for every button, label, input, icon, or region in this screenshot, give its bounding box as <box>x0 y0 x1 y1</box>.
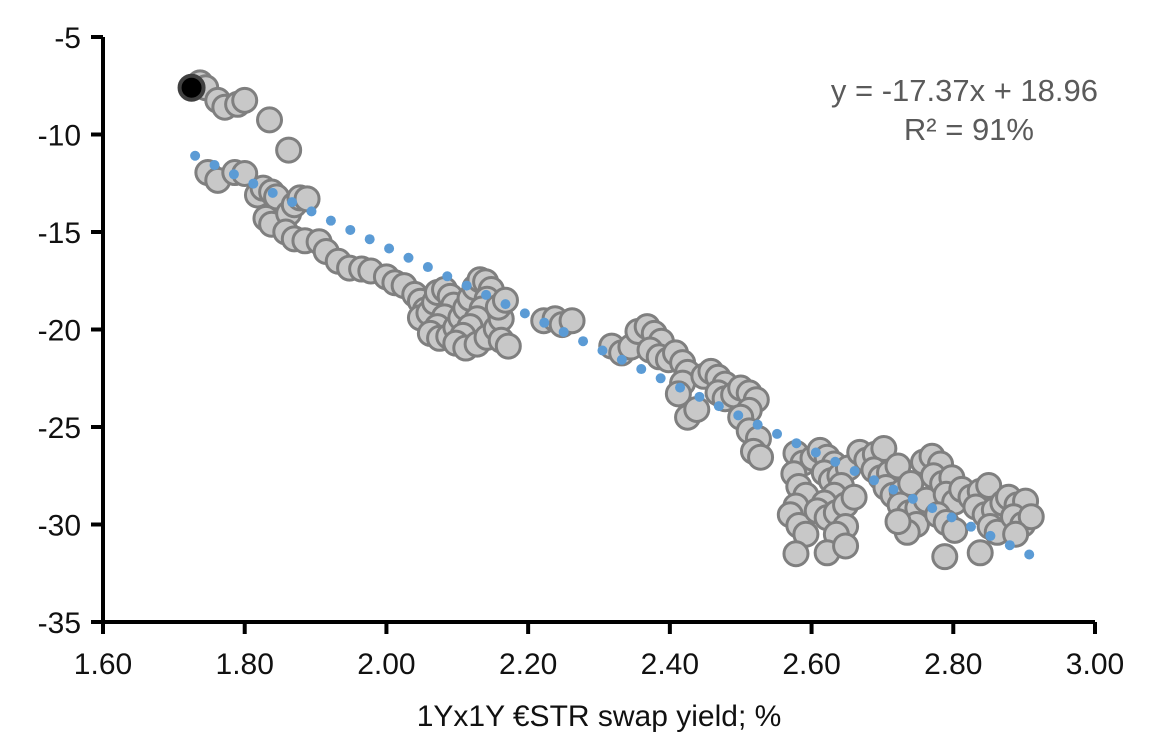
trendline-dot <box>966 522 976 532</box>
trendline-dot <box>830 457 840 467</box>
scatter-point <box>258 108 282 132</box>
scatter-point <box>496 334 520 358</box>
x-tick-label: 1.80 <box>216 648 274 681</box>
scatter-point <box>784 542 808 566</box>
scatter-chart: -5-10-15-20-25-30-351.601.802.002.202.40… <box>0 0 1152 745</box>
trendline-dot <box>190 151 200 161</box>
y-tick-label: -15 <box>38 217 81 250</box>
trendline-dot <box>597 345 607 355</box>
trendline-dot <box>229 169 239 179</box>
trendline-dot <box>811 447 821 457</box>
y-tick-label: -35 <box>38 607 81 640</box>
scatter-point <box>842 485 866 509</box>
trendline-dot <box>307 206 317 216</box>
x-tick-label: 1.60 <box>74 648 132 681</box>
trendline-dot <box>908 494 918 504</box>
trendline-dot <box>500 299 510 309</box>
x-tick-label: 2.40 <box>641 648 699 681</box>
x-tick-label: 2.80 <box>924 648 982 681</box>
trendline-dot <box>617 355 627 365</box>
trendline-annotation: R² = 91% <box>904 112 1034 147</box>
trendline-dot <box>403 253 413 263</box>
x-axis-title: 1Yx1Y €STR swap yield; % <box>417 700 782 733</box>
trendline-dot <box>287 197 297 207</box>
trendline-dot <box>1024 549 1034 559</box>
annotations-layer: y = -17.37x + 18.96R² = 91% <box>831 73 1098 147</box>
scatter-point <box>943 518 967 542</box>
y-tick-label: -25 <box>38 412 81 445</box>
scatter-point <box>295 187 319 211</box>
trendline-dot <box>481 290 491 300</box>
y-tick-label: -30 <box>38 510 81 543</box>
trendline-dot <box>636 364 646 374</box>
trendline-dot <box>365 234 375 244</box>
trendline-dot <box>927 503 937 513</box>
y-tick-label: -5 <box>54 22 81 55</box>
y-tick-label: -10 <box>38 120 81 153</box>
trendline-dot <box>268 188 278 198</box>
plot-area: -5-10-15-20-25-30-351.601.802.002.202.40… <box>0 0 1152 745</box>
trendline-annotation: y = -17.37x + 18.96 <box>831 73 1098 108</box>
trendline-dot <box>326 216 336 226</box>
trendline-dot <box>462 281 472 291</box>
scatter-point <box>834 534 858 558</box>
trendline-dot <box>791 438 801 448</box>
trendline-dot <box>559 327 569 337</box>
trendline-dot <box>423 262 433 272</box>
scatter-point <box>277 138 301 162</box>
trendline-dot <box>733 410 743 420</box>
x-tick-label: 2.20 <box>499 648 557 681</box>
trendline-dot <box>345 225 355 235</box>
trendline-dot <box>985 531 995 541</box>
trendline-dot <box>753 420 763 430</box>
y-tick-label: -20 <box>38 315 81 348</box>
scatter-point <box>749 445 773 469</box>
scatter-point <box>886 510 910 534</box>
trendline-dot <box>869 475 879 485</box>
scatter-point <box>233 88 257 112</box>
scatter-point <box>968 541 992 565</box>
trendline-dot <box>210 160 220 170</box>
x-tick-label: 3.00 <box>1066 648 1124 681</box>
x-tick-label: 2.60 <box>782 648 840 681</box>
trendline-dot <box>578 336 588 346</box>
x-tick-label: 2.00 <box>357 648 415 681</box>
trendline-dot <box>947 512 957 522</box>
trendline-dot <box>539 318 549 328</box>
trendline-dot <box>656 373 666 383</box>
trendline-dot <box>888 485 898 495</box>
highlighted-scatter-point <box>180 76 204 100</box>
trendline-dot <box>248 179 258 189</box>
trendline-dot <box>694 392 704 402</box>
trendline-dot <box>714 401 724 411</box>
trendline-dot <box>384 243 394 253</box>
trendline-dot <box>675 383 685 393</box>
trendline-dot <box>850 466 860 476</box>
trendline-dot <box>520 308 530 318</box>
scatter-point <box>933 545 957 569</box>
trendline-dot <box>772 429 782 439</box>
trendline-dot <box>442 271 452 281</box>
trendline-dot <box>1005 540 1015 550</box>
